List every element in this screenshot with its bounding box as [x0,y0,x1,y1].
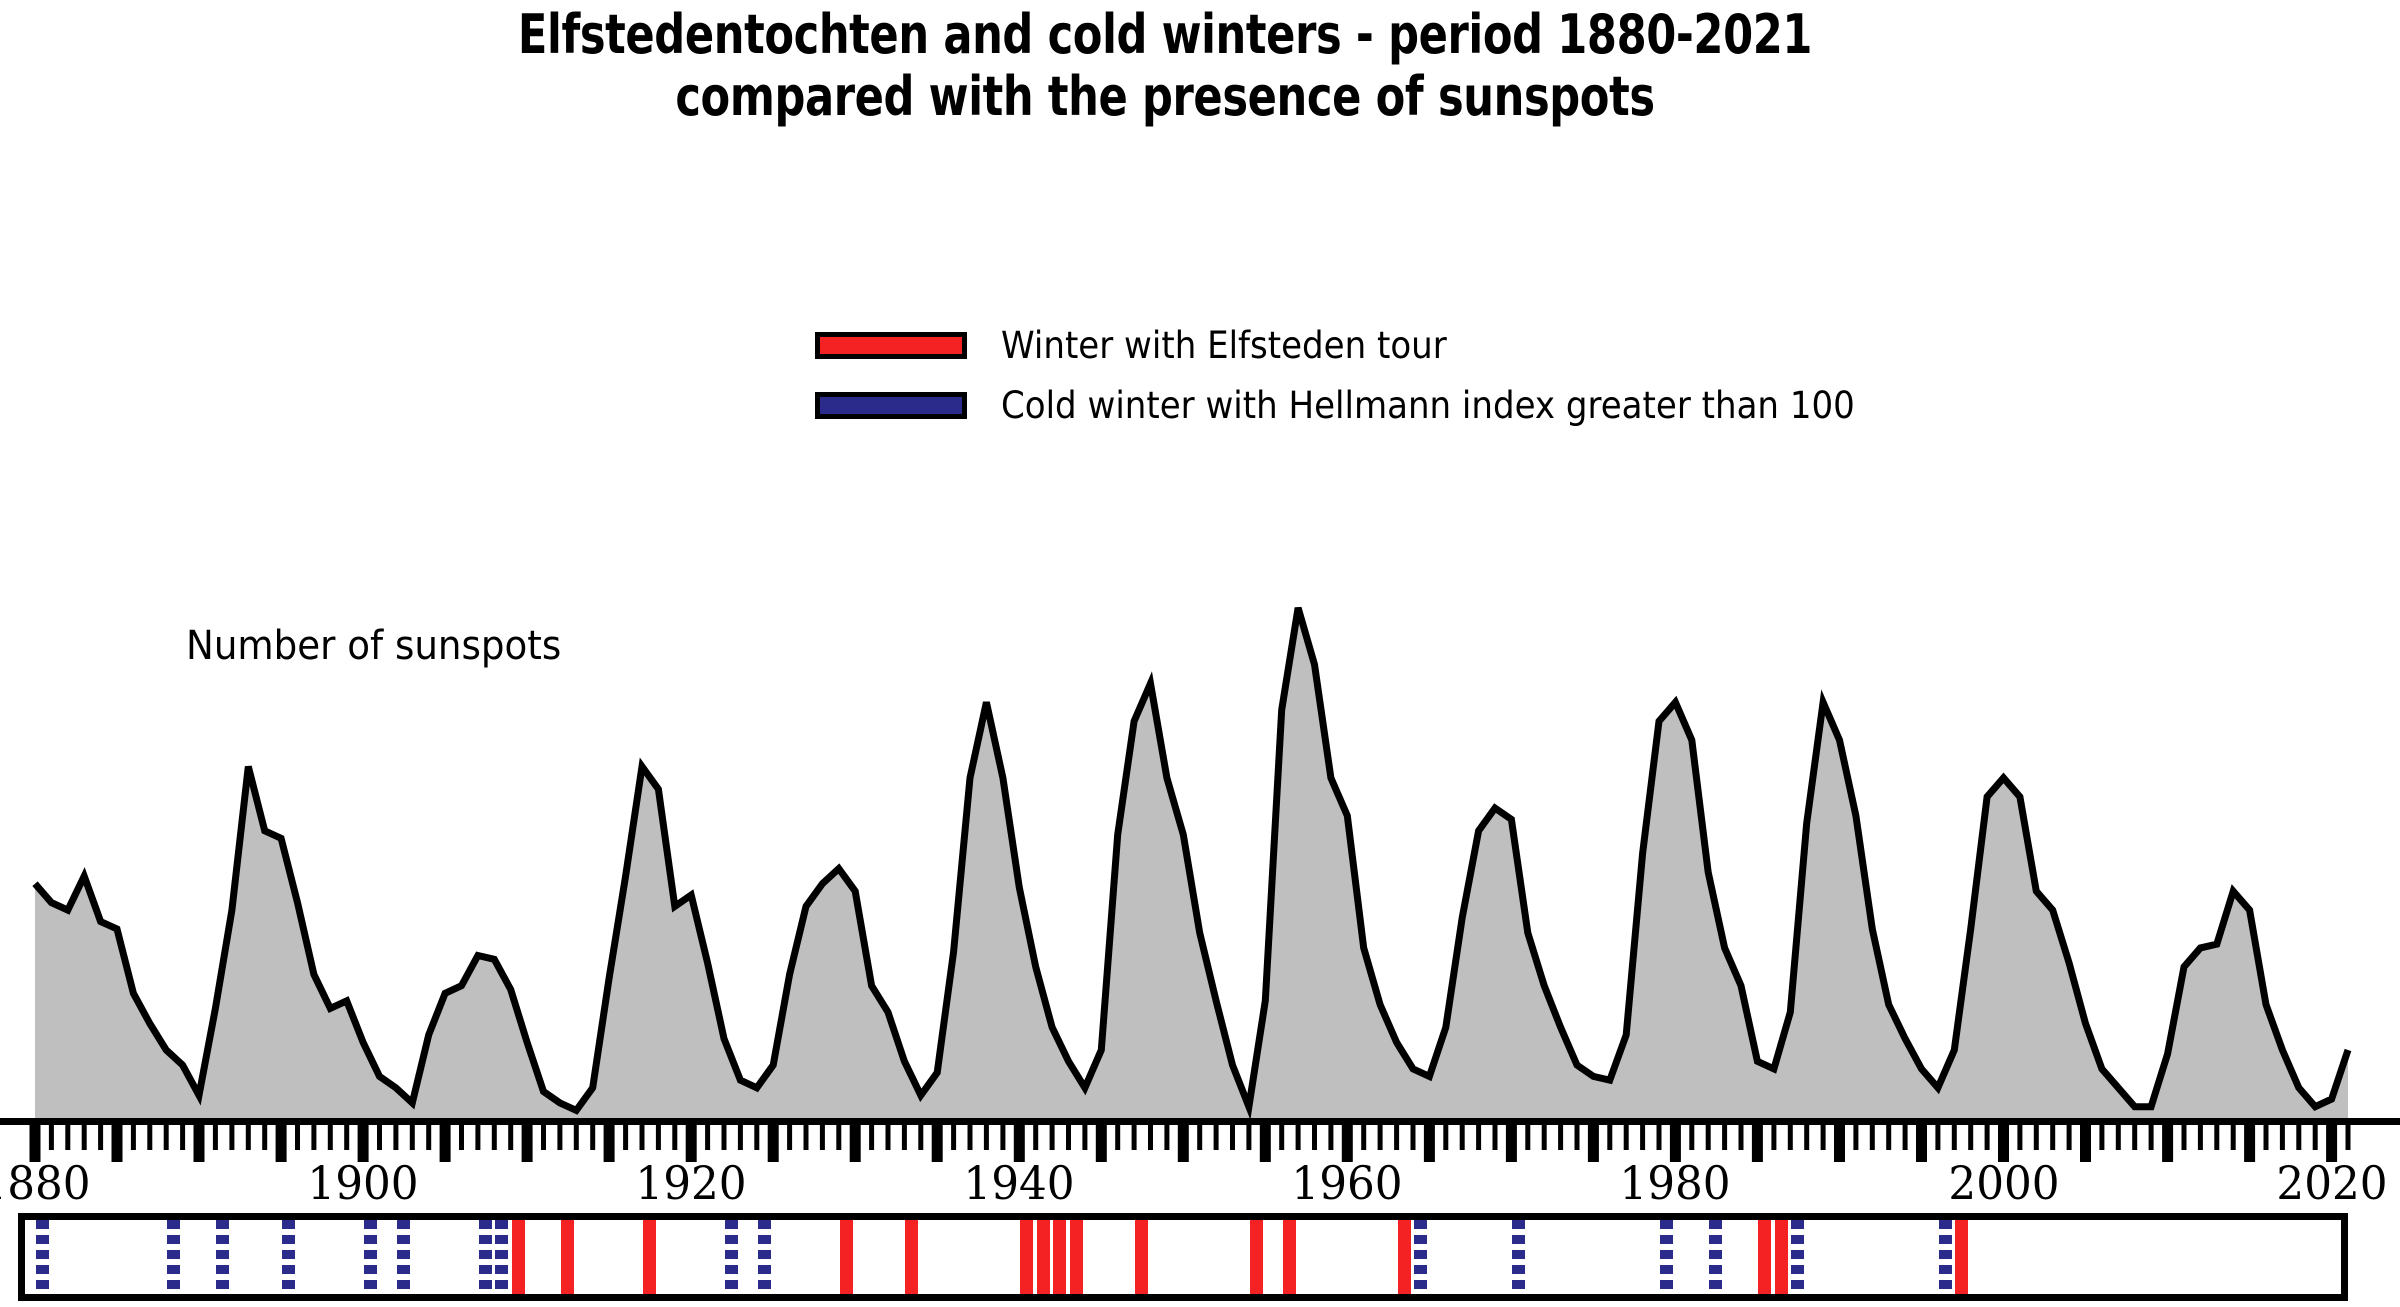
event-marker-bar [18,1213,2348,1301]
elfsteden-tour-marker [1037,1220,1050,1294]
cold-winter-marker [167,1220,180,1294]
cold-winter-marker [495,1220,508,1294]
blue-swatch-icon [815,392,967,419]
cold-winter-marker [282,1220,295,1294]
elfsteden-tour-marker [1955,1220,1968,1294]
cold-winter-marker [1709,1220,1722,1294]
legend-item: Cold winter with Hellmann index greater … [815,375,1929,435]
cold-winter-marker [1414,1220,1427,1294]
elfsteden-tour-marker [561,1220,574,1294]
cold-winter-marker [216,1220,229,1294]
chart-canvas: Elfstedentochten and cold winters - peri… [0,0,2400,1307]
elfsteden-tour-marker [1758,1220,1771,1294]
cold-winter-marker [1791,1220,1804,1294]
chart-title-line-2: compared with the presence of sunspots [233,66,2097,128]
cold-winter-marker [758,1220,771,1294]
elfsteden-tour-marker [1135,1220,1148,1294]
chart-title-line-1: Elfstedentochten and cold winters - peri… [233,4,2097,66]
legend-item-label: Winter with Elfsteden tour [1001,327,1447,364]
cold-winter-marker [1660,1220,1673,1294]
elfsteden-tour-marker [1020,1220,1033,1294]
chart-legend: Winter with Elfsteden tourCold winter wi… [815,315,1929,435]
cold-winter-marker [36,1220,49,1294]
cold-winter-marker [725,1220,738,1294]
x-tick-label: 2020 [2276,1160,2387,1206]
cold-winter-marker [1939,1220,1952,1294]
sunspot-curve [0,560,2400,1120]
elfsteden-tour-marker [643,1220,656,1294]
red-swatch-icon [815,332,967,359]
x-tick-label: 1960 [1292,1160,1403,1206]
elfsteden-tour-marker [512,1220,525,1294]
cold-winter-marker [364,1220,377,1294]
cold-winter-marker [397,1220,410,1294]
legend-item: Winter with Elfsteden tour [815,315,1929,375]
elfsteden-tour-marker [840,1220,853,1294]
x-tick-label: 1900 [307,1160,418,1206]
x-tick-label: 1880 [0,1160,91,1206]
x-axis-tick-labels: 18801900192019401960198020002020 [0,1160,2400,1220]
elfsteden-tour-marker [1053,1220,1066,1294]
elfsteden-tour-marker [1775,1220,1788,1294]
chart-title: Elfstedentochten and cold winters - peri… [0,4,2330,128]
x-tick-label: 1980 [1620,1160,1731,1206]
x-tick-label: 1920 [636,1160,747,1206]
elfsteden-tour-marker [1070,1220,1083,1294]
x-tick-label: 1940 [964,1160,1075,1206]
x-tick-label: 2000 [1948,1160,2059,1206]
elfsteden-tour-marker [1283,1220,1296,1294]
sunspot-area-plot [0,560,2400,1120]
legend-item-label: Cold winter with Hellmann index greater … [1001,387,1855,424]
cold-winter-marker [1512,1220,1525,1294]
elfsteden-tour-marker [905,1220,918,1294]
cold-winter-marker [479,1220,492,1294]
elfsteden-tour-marker [1398,1220,1411,1294]
elfsteden-tour-marker [1250,1220,1263,1294]
